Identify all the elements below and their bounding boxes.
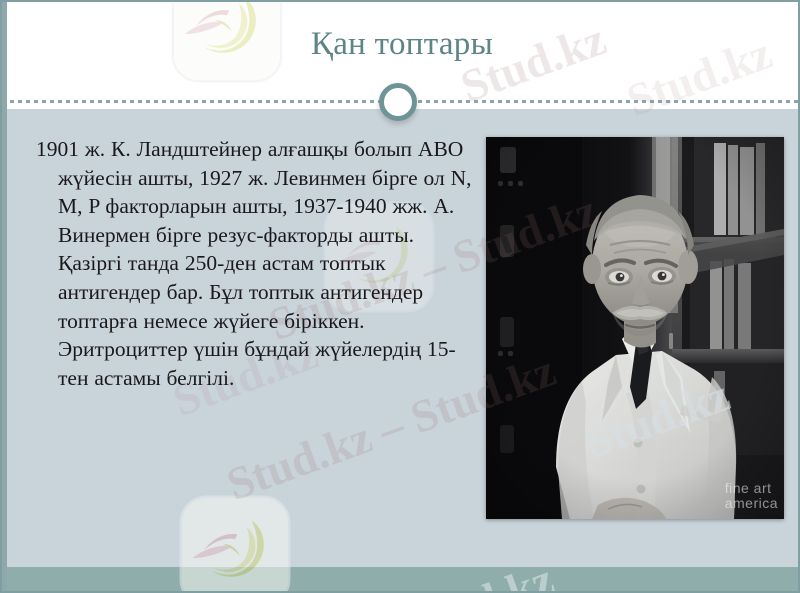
photo-credit-line-2: america: [725, 496, 778, 511]
page-title: Қан топтары: [62, 24, 742, 64]
slide: fine art america Stud.kz Stud.kz – Stud.…: [0, 0, 800, 593]
slide-footer-band: [2, 567, 800, 593]
slide-body-text: 1901 ж. К. Ландштейнер алғашқы болып АВО…: [36, 135, 478, 392]
landsteiner-photo: fine art america: [486, 137, 784, 519]
photo-credit-line-1: fine art: [725, 481, 778, 496]
header-ring-decoration: [379, 83, 417, 121]
slide-left-accent-strip: [2, 2, 7, 593]
photo-credit-watermark: fine art america: [725, 481, 778, 511]
